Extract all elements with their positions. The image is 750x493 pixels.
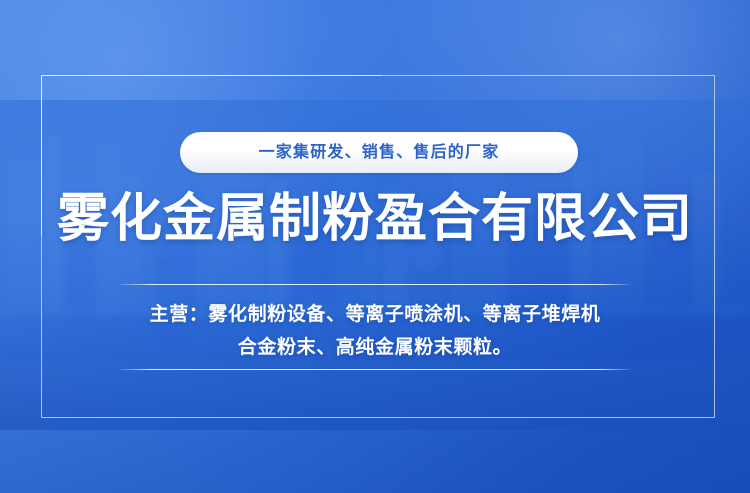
banner-content: 一家集研发、销售、售后的厂家 雾化金属制粉盈合有限公司 主营：雾化制粉设备、等离… [0, 0, 750, 493]
business-scope-line-1: 主营：雾化制粉设备、等离子喷涂机、等离子堆焊机 [0, 298, 750, 331]
company-banner: 一家集研发、销售、售后的厂家 雾化金属制粉盈合有限公司 主营：雾化制粉设备、等离… [0, 0, 750, 493]
tagline-badge: 一家集研发、销售、售后的厂家 [180, 132, 578, 173]
business-scope-line-2: 合金粉末、高纯金属粉末颗粒。 [0, 331, 750, 364]
company-title: 雾化金属制粉盈合有限公司 [0, 190, 750, 248]
business-scope: 主营：雾化制粉设备、等离子喷涂机、等离子堆焊机 合金粉末、高纯金属粉末颗粒。 [0, 298, 750, 365]
divider-top [120, 284, 630, 285]
divider-bottom [120, 369, 630, 370]
tagline-text: 一家集研发、销售、售后的厂家 [259, 145, 500, 161]
